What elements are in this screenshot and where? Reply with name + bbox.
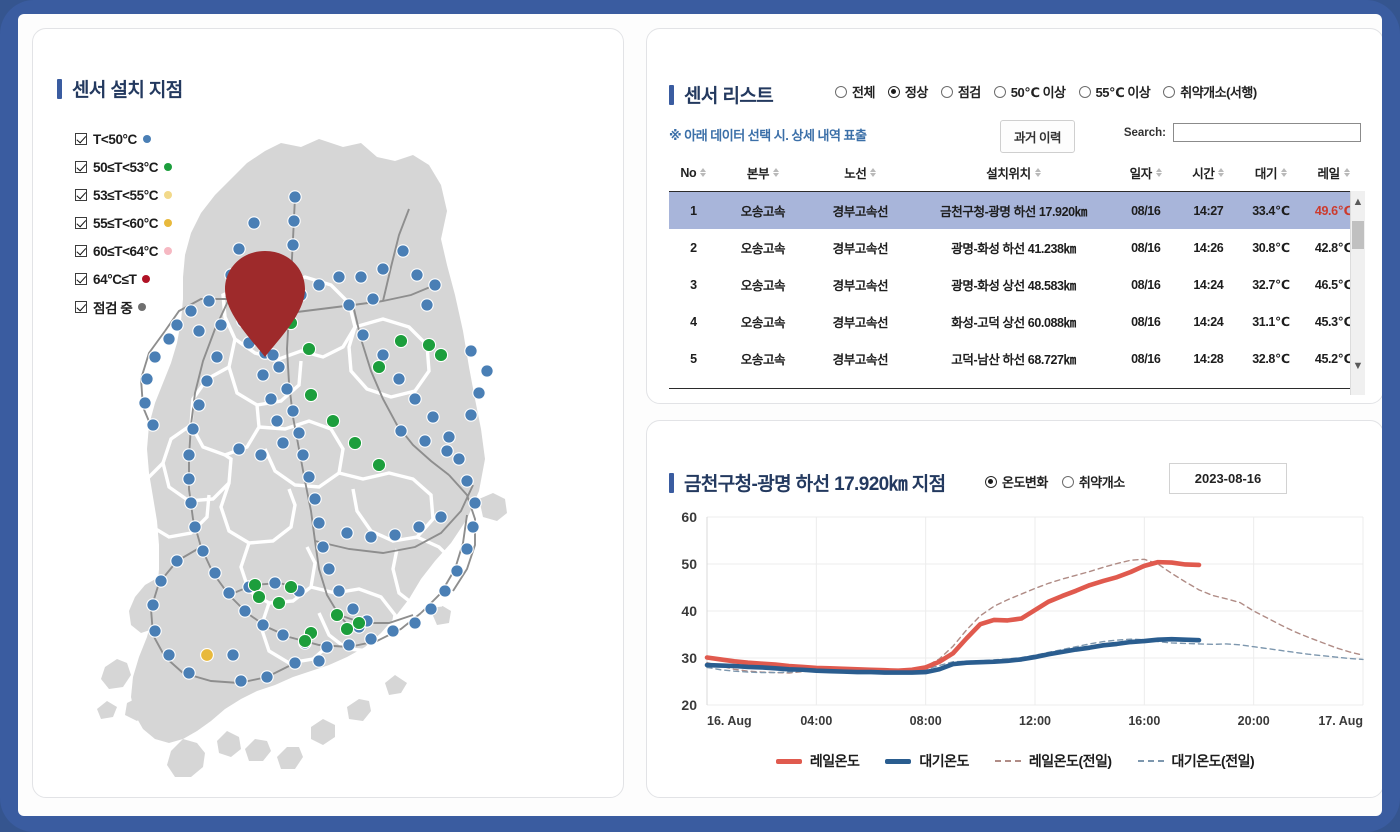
title-accent-bar	[669, 85, 674, 105]
legend-inspection[interactable]: 점검 중	[75, 293, 172, 321]
filter-label: 55℃ 이상	[1096, 82, 1151, 101]
cell-hq: 오송고속	[718, 340, 808, 377]
cell-hq: 오송고속	[718, 266, 808, 303]
chart-mode-temperature[interactable]: 온도변화	[985, 472, 1048, 491]
chart-x-tick-labels: 16. Aug04:0008:0012:0016:0020:0017. Aug	[707, 714, 1363, 728]
chart-mode-label: 취약개소	[1079, 472, 1125, 491]
radio-icon[interactable]	[1062, 476, 1074, 488]
cell-line: 경부고속선	[808, 340, 912, 377]
cell-line: 경부고속선	[808, 192, 912, 230]
svg-text:20:00: 20:00	[1238, 714, 1270, 728]
sensor-table-head: No 본부 노선 설치위치 일자 시간 대기 레일	[669, 157, 1365, 192]
legend-swatch-solid	[885, 759, 911, 764]
cell-hq: 오송고속	[718, 229, 808, 266]
legend-checkbox[interactable]	[75, 217, 87, 229]
radio-icon-selected[interactable]	[985, 476, 997, 488]
cell-time: 14:24	[1177, 266, 1240, 303]
cell-date: 08/16	[1114, 303, 1177, 340]
svg-text:16:00: 16:00	[1128, 714, 1160, 728]
chart-panel: 금천구청-광명 하선 17.920㎞ 지점 온도변화 취약개소 2023-08-…	[646, 420, 1382, 798]
chart-y-tick-labels: 2030405060	[681, 509, 697, 713]
cell-air-temp: 31.1℃	[1240, 303, 1303, 340]
cell-time: 14:27	[1177, 192, 1240, 230]
legend-text: 대기온도(전일)	[1172, 751, 1255, 771]
radio-icon[interactable]	[941, 86, 953, 98]
legend-label: 64°C≤T	[93, 272, 136, 287]
search-area: Search:	[1124, 123, 1361, 142]
legend-color-dot	[138, 303, 146, 311]
legend-label: 점검 중	[93, 297, 132, 317]
chart-mode-radio-group: 온도변화 취약개소	[985, 472, 1125, 491]
svg-text:50: 50	[681, 556, 697, 572]
legend-label: 50≤T<53°C	[93, 160, 158, 175]
chart-mode-label: 온도변화	[1002, 472, 1048, 491]
chart-panel-title: 금천구청-광명 하선 17.920㎞ 지점	[669, 469, 945, 496]
table-row[interactable]: 3 오송고속 경부고속선 광명-화성 상선 48.583㎞ 08/16 14:2…	[669, 266, 1365, 303]
cell-air-temp: 30.8℃	[1240, 229, 1303, 266]
cell-no: 3	[669, 266, 718, 303]
cell-hq: 오송고속	[718, 303, 808, 340]
scroll-down-icon[interactable]: ▼	[1351, 359, 1365, 373]
svg-text:40: 40	[681, 603, 697, 619]
sensor-list-panel: 센서 리스트 전체 정상 점검 50℃ 이상	[646, 28, 1382, 404]
sort-icon[interactable]	[1218, 168, 1224, 178]
history-button[interactable]: 과거 이력	[1000, 120, 1075, 153]
cell-line: 경부고속선	[808, 229, 912, 266]
col-header-no[interactable]: No	[669, 157, 718, 192]
sort-icon[interactable]	[870, 168, 876, 178]
legend-air-temp-prev[interactable]: 대기온도(전일)	[1138, 751, 1255, 771]
col-header-hq[interactable]: 본부	[718, 157, 808, 192]
filter-radio-all[interactable]: 전체	[835, 82, 875, 101]
legend-swatch-solid	[776, 759, 802, 764]
table-row[interactable]: 4 오송고속 경부고속선 화성-고덕 상선 60.088㎞ 08/16 14:2…	[669, 303, 1365, 340]
sort-icon[interactable]	[1035, 168, 1041, 178]
cell-date: 08/16	[1114, 340, 1177, 377]
col-header-rail[interactable]: 레일	[1302, 157, 1365, 192]
legend-label: 60≤T<64°C	[93, 244, 158, 259]
svg-text:16. Aug: 16. Aug	[707, 714, 752, 728]
cell-hq: 오송고속	[718, 192, 808, 230]
legend-checkbox[interactable]	[75, 273, 87, 285]
filter-radio-vulnerable[interactable]: 취약개소(서행)	[1163, 82, 1256, 101]
radio-icon[interactable]	[835, 86, 847, 98]
legend-checkbox[interactable]	[75, 161, 87, 173]
svg-text:08:00: 08:00	[910, 714, 942, 728]
sensor-table: No 본부 노선 설치위치 일자 시간 대기 레일 1	[669, 157, 1365, 395]
chart-title-text: 금천구청-광명 하선 17.920㎞ 지점	[684, 469, 945, 496]
radio-icon[interactable]	[994, 86, 1006, 98]
filter-radio-inspection[interactable]: 점검	[941, 82, 981, 101]
scrollbar-thumb[interactable]	[1352, 221, 1364, 249]
col-header-line[interactable]: 노선	[808, 157, 912, 192]
cell-no: 5	[669, 340, 718, 377]
legend-t-50-53[interactable]: 50≤T<53°C	[75, 153, 172, 181]
sort-icon[interactable]	[1281, 168, 1287, 178]
radio-icon[interactable]	[1079, 86, 1091, 98]
legend-color-dot	[164, 191, 172, 199]
filter-label: 50℃ 이상	[1011, 82, 1066, 101]
chart-mode-vulnerable[interactable]: 취약개소	[1062, 472, 1125, 491]
legend-swatch-dashed	[995, 760, 1021, 762]
cell-date: 08/16	[1114, 229, 1177, 266]
radio-icon[interactable]	[1163, 86, 1175, 98]
col-header-date[interactable]: 일자	[1114, 157, 1177, 192]
legend-t-53-55[interactable]: 53≤T<55°C	[75, 181, 172, 209]
col-header-location[interactable]: 설치위치	[913, 157, 1115, 192]
table-row[interactable]: 5 오송고속 경부고속선 고덕-남산 하선 68.727㎞ 08/16 14:2…	[669, 340, 1365, 377]
legend-color-dot	[164, 247, 172, 255]
cell-line: 경부고속선	[808, 266, 912, 303]
cell-no: 1	[669, 192, 718, 230]
title-accent-bar	[57, 79, 62, 99]
cell-location: 화성-고덕 상선 60.088㎞	[913, 303, 1115, 340]
filter-radio-over-50c[interactable]: 50℃ 이상	[994, 82, 1066, 101]
legend-label: 53≤T<55°C	[93, 188, 158, 203]
legend-text: 레일온도	[810, 751, 860, 771]
legend-label: 55≤T<60°C	[93, 216, 158, 231]
cell-time: 14:28	[1177, 340, 1240, 377]
legend-t-below-50[interactable]: T<50°C	[75, 125, 172, 153]
col-header-air[interactable]: 대기	[1240, 157, 1303, 192]
legend-swatch-dashed	[1138, 760, 1164, 762]
app-content: 센서 설치 지점	[18, 14, 1382, 816]
sort-icon[interactable]	[773, 168, 779, 178]
legend-color-dot	[164, 219, 172, 227]
legend-color-dot	[142, 275, 150, 283]
svg-text:20: 20	[681, 697, 697, 713]
date-picker[interactable]: 2023-08-16	[1169, 463, 1287, 494]
map-legend: T<50°C 50≤T<53°C 53≤T<55°C 55≤T<60°C	[75, 125, 172, 321]
cell-air-temp: 32.8℃	[1240, 340, 1303, 377]
temperature-chart[interactable]: 2030405060 16. Aug04:0008:0012:0016:0020…	[657, 507, 1375, 737]
table-scrollbar[interactable]: ▲ ▼	[1350, 191, 1365, 395]
legend-checkbox[interactable]	[75, 133, 87, 145]
search-label: Search:	[1124, 127, 1166, 139]
filter-label: 전체	[852, 82, 875, 101]
filter-label: 정상	[905, 82, 928, 101]
col-header-time[interactable]: 시간	[1177, 157, 1240, 192]
filter-label: 취약개소(서행)	[1180, 82, 1256, 101]
legend-t-55-60[interactable]: 55≤T<60°C	[75, 209, 172, 237]
sensor-list-title-text: 센서 리스트	[684, 81, 773, 108]
table-row[interactable]: 2 오송고속 경부고속선 광명-화성 하선 41.238㎞ 08/16 14:2…	[669, 229, 1365, 266]
legend-checkbox[interactable]	[75, 189, 87, 201]
chart-legend: 레일온도 대기온도 레일온도(전일) 대기온도(전일)	[647, 751, 1382, 771]
sort-icon[interactable]	[1156, 168, 1162, 178]
scroll-up-icon[interactable]: ▲	[1351, 195, 1365, 209]
cell-location: 고덕-남산 하선 68.727㎞	[913, 340, 1115, 377]
title-accent-bar	[669, 473, 674, 493]
sort-icon[interactable]	[700, 168, 706, 178]
svg-text:30: 30	[681, 650, 697, 666]
sensor-table-area: No 본부 노선 설치위치 일자 시간 대기 레일 1	[669, 157, 1365, 395]
cell-date: 08/16	[1114, 266, 1177, 303]
legend-label: T<50°C	[93, 132, 137, 147]
legend-color-dot	[164, 163, 172, 171]
sensor-list-note: ※ 아래 데이터 선택 시. 상세 내역 표출	[669, 125, 866, 144]
app-frame: 센서 설치 지점	[0, 0, 1400, 832]
table-bottom-border	[669, 388, 1350, 395]
series-레일온도	[707, 562, 1199, 671]
cell-air-temp: 33.4℃	[1240, 192, 1303, 230]
legend-checkbox[interactable]	[75, 301, 87, 313]
cell-air-temp: 32.7℃	[1240, 266, 1303, 303]
legend-t-60-64[interactable]: 60≤T<64°C	[75, 237, 172, 265]
legend-checkbox[interactable]	[75, 245, 87, 257]
legend-text: 대기온도	[919, 751, 969, 771]
svg-text:60: 60	[681, 509, 697, 525]
radio-icon-selected[interactable]	[888, 86, 900, 98]
search-input[interactable]	[1173, 123, 1361, 142]
legend-t-above-64[interactable]: 64°C≤T	[75, 265, 172, 293]
svg-text:17. Aug: 17. Aug	[1318, 714, 1363, 728]
legend-rail-temp-prev[interactable]: 레일온도(전일)	[995, 751, 1112, 771]
cell-time: 14:24	[1177, 303, 1240, 340]
cell-location: 금천구청-광명 하선 17.920㎞	[913, 192, 1115, 230]
filter-label: 점검	[958, 82, 981, 101]
cell-no: 2	[669, 229, 718, 266]
legend-rail-temp[interactable]: 레일온도	[776, 751, 860, 771]
map-title-text: 센서 설치 지점	[72, 75, 183, 102]
table-row[interactable]: 1 오송고속 경부고속선 금천구청-광명 하선 17.920㎞ 08/16 14…	[669, 192, 1365, 230]
filter-radio-normal[interactable]: 정상	[888, 82, 928, 101]
cell-date: 08/16	[1114, 192, 1177, 230]
map-panel-title: 센서 설치 지점	[57, 75, 183, 102]
cell-time: 14:26	[1177, 229, 1240, 266]
legend-text: 레일온도(전일)	[1029, 751, 1112, 771]
sort-icon[interactable]	[1344, 168, 1350, 178]
cell-location: 광명-화성 상선 48.583㎞	[913, 266, 1115, 303]
sensor-filter-radio-group: 전체 정상 점검 50℃ 이상 55℃ 이상	[835, 82, 1257, 101]
legend-color-dot	[143, 135, 151, 143]
cell-no: 4	[669, 303, 718, 340]
svg-text:04:00: 04:00	[800, 714, 832, 728]
map-panel: 센서 설치 지점	[32, 28, 624, 798]
sensor-table-body: 1 오송고속 경부고속선 금천구청-광명 하선 17.920㎞ 08/16 14…	[669, 192, 1365, 396]
filter-radio-over-55c[interactable]: 55℃ 이상	[1079, 82, 1151, 101]
sensor-list-title: 센서 리스트	[669, 81, 773, 108]
legend-air-temp[interactable]: 대기온도	[885, 751, 969, 771]
cell-line: 경부고속선	[808, 303, 912, 340]
svg-text:12:00: 12:00	[1019, 714, 1051, 728]
cell-location: 광명-화성 하선 41.238㎞	[913, 229, 1115, 266]
